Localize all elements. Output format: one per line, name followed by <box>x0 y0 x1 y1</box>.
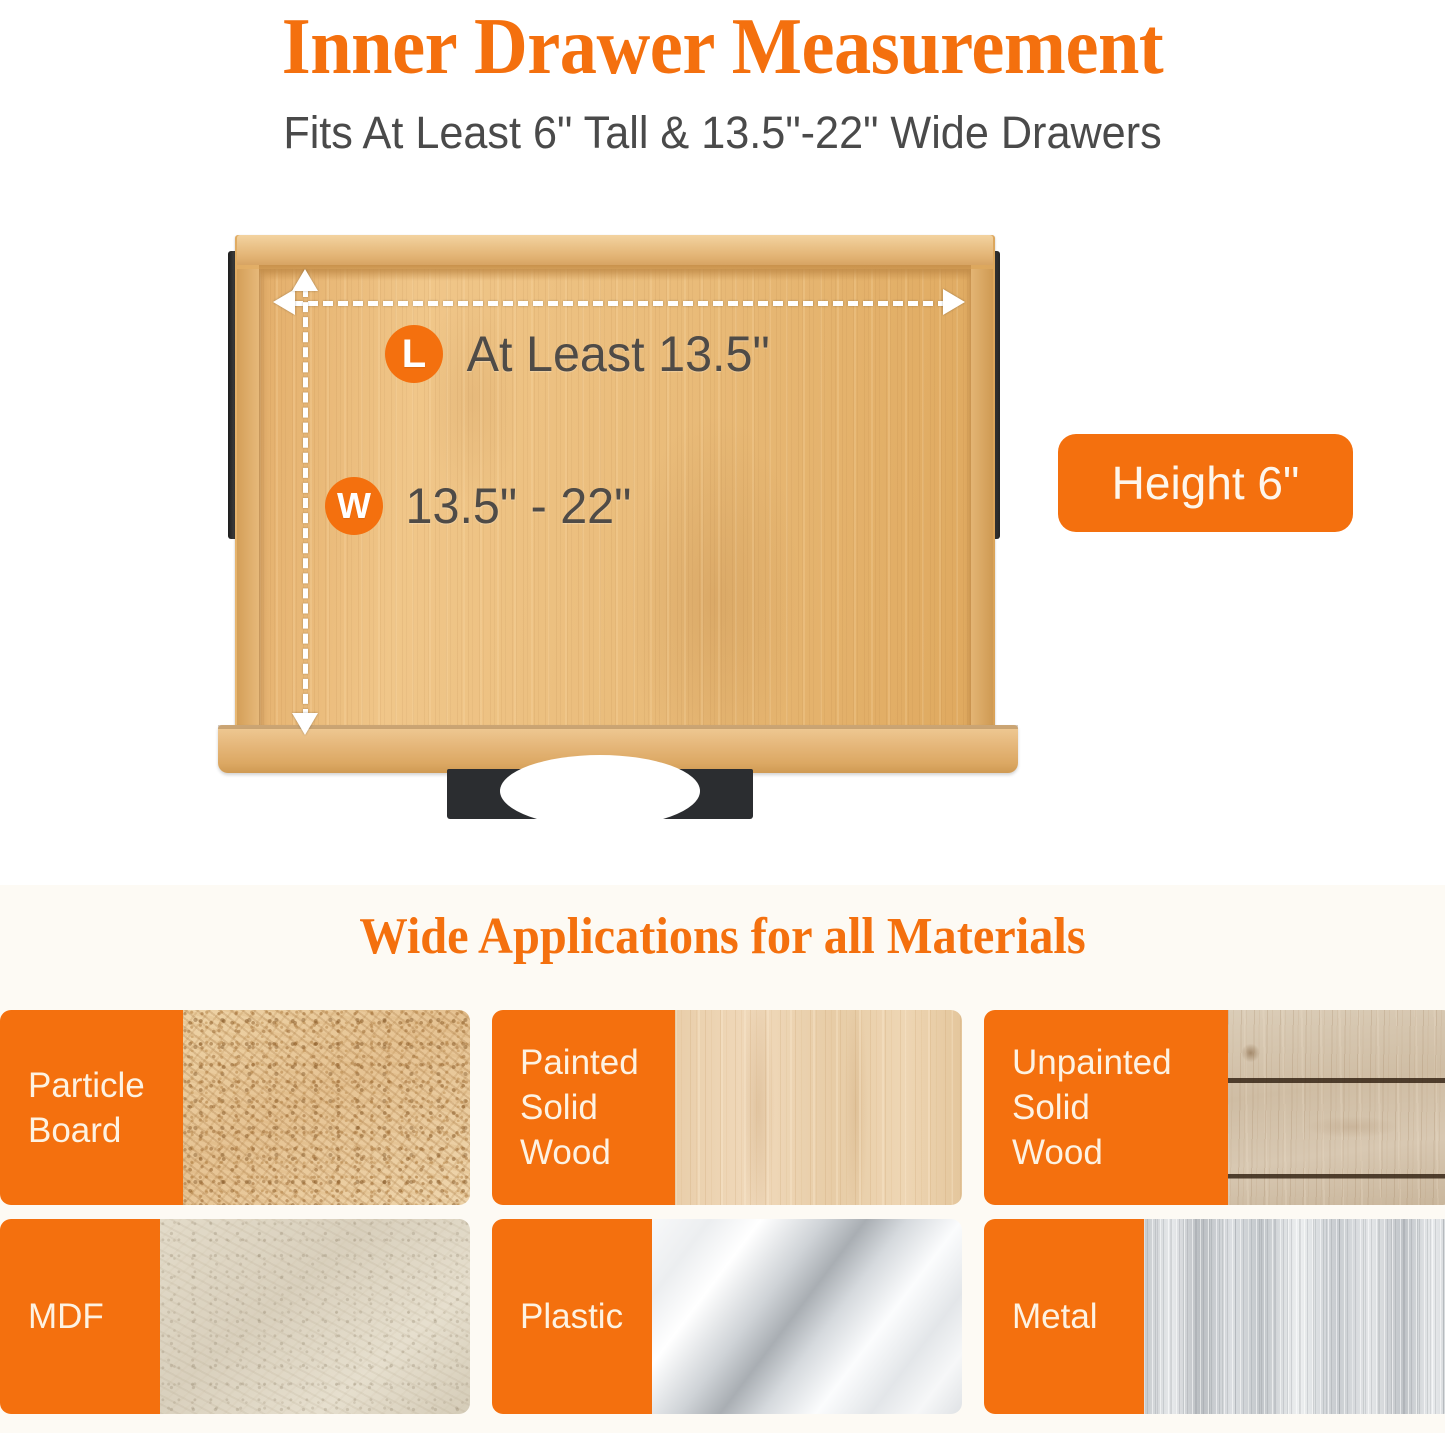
material-swatch-unpainted-solid-wood <box>1228 1010 1445 1205</box>
length-label: At Least 13.5" <box>467 325 770 383</box>
height-badge: Height 6" <box>1058 434 1353 532</box>
width-measurement: W 13.5" - 22" <box>325 477 635 535</box>
material-label: Plastic <box>492 1219 652 1414</box>
drawer-wall-back <box>259 265 971 281</box>
arrow-left-icon <box>273 289 295 315</box>
material-card-unpainted-solid-wood: Unpainted Solid Wood <box>984 1010 1445 1205</box>
material-label: Metal <box>984 1219 1144 1414</box>
material-swatch-plastic <box>652 1219 962 1414</box>
page-title: Inner Drawer Measurement <box>51 4 1395 90</box>
arrow-right-icon <box>943 289 965 315</box>
drawer-wall-left <box>237 269 261 731</box>
infographic-page: Inner Drawer Measurement Fits At Least 6… <box>0 0 1445 1433</box>
material-card-mdf: MDF <box>0 1219 470 1414</box>
material-label: Particle Board <box>0 1010 183 1205</box>
material-swatch-metal <box>1144 1219 1445 1414</box>
dimension-line-horizontal <box>293 301 948 306</box>
material-swatch-mdf <box>160 1219 470 1414</box>
material-swatch-particle-board <box>183 1010 470 1205</box>
material-label: Painted Solid Wood <box>492 1010 675 1205</box>
drawer-top-rail <box>237 235 993 265</box>
applications-title: Wide Applications for all Materials <box>51 905 1395 969</box>
drawer-illustration: L At Least 13.5" W 13.5" - 22" <box>185 225 1065 805</box>
width-label: 13.5" - 22" <box>405 477 631 535</box>
width-badge: W <box>325 477 383 535</box>
length-badge: L <box>385 325 443 383</box>
material-card-particle-board: Particle Board <box>0 1010 470 1205</box>
arrow-up-icon <box>292 269 318 291</box>
length-measurement: L At Least 13.5" <box>385 325 774 383</box>
material-card-metal: Metal <box>984 1219 1445 1414</box>
material-card-plastic: Plastic <box>492 1219 962 1414</box>
material-swatch-painted-solid-wood <box>675 1010 962 1205</box>
material-label: Unpainted Solid Wood <box>984 1010 1228 1205</box>
applications-section: Wide Applications for all Materials Part… <box>0 885 1445 1433</box>
material-label: MDF <box>0 1219 160 1414</box>
arrow-down-icon <box>292 713 318 735</box>
dimension-line-vertical <box>303 287 308 719</box>
material-card-grid: Particle Board Painted Solid Wood Unpain… <box>0 1010 1445 1414</box>
drawer-bracket-icon <box>447 769 753 819</box>
drawer-wall-right <box>969 269 993 731</box>
measurement-section: Inner Drawer Measurement Fits At Least 6… <box>0 0 1445 885</box>
material-card-painted-solid-wood: Painted Solid Wood <box>492 1010 962 1205</box>
page-subtitle: Fits At Least 6" Tall & 13.5"-22" Wide D… <box>29 104 1416 162</box>
